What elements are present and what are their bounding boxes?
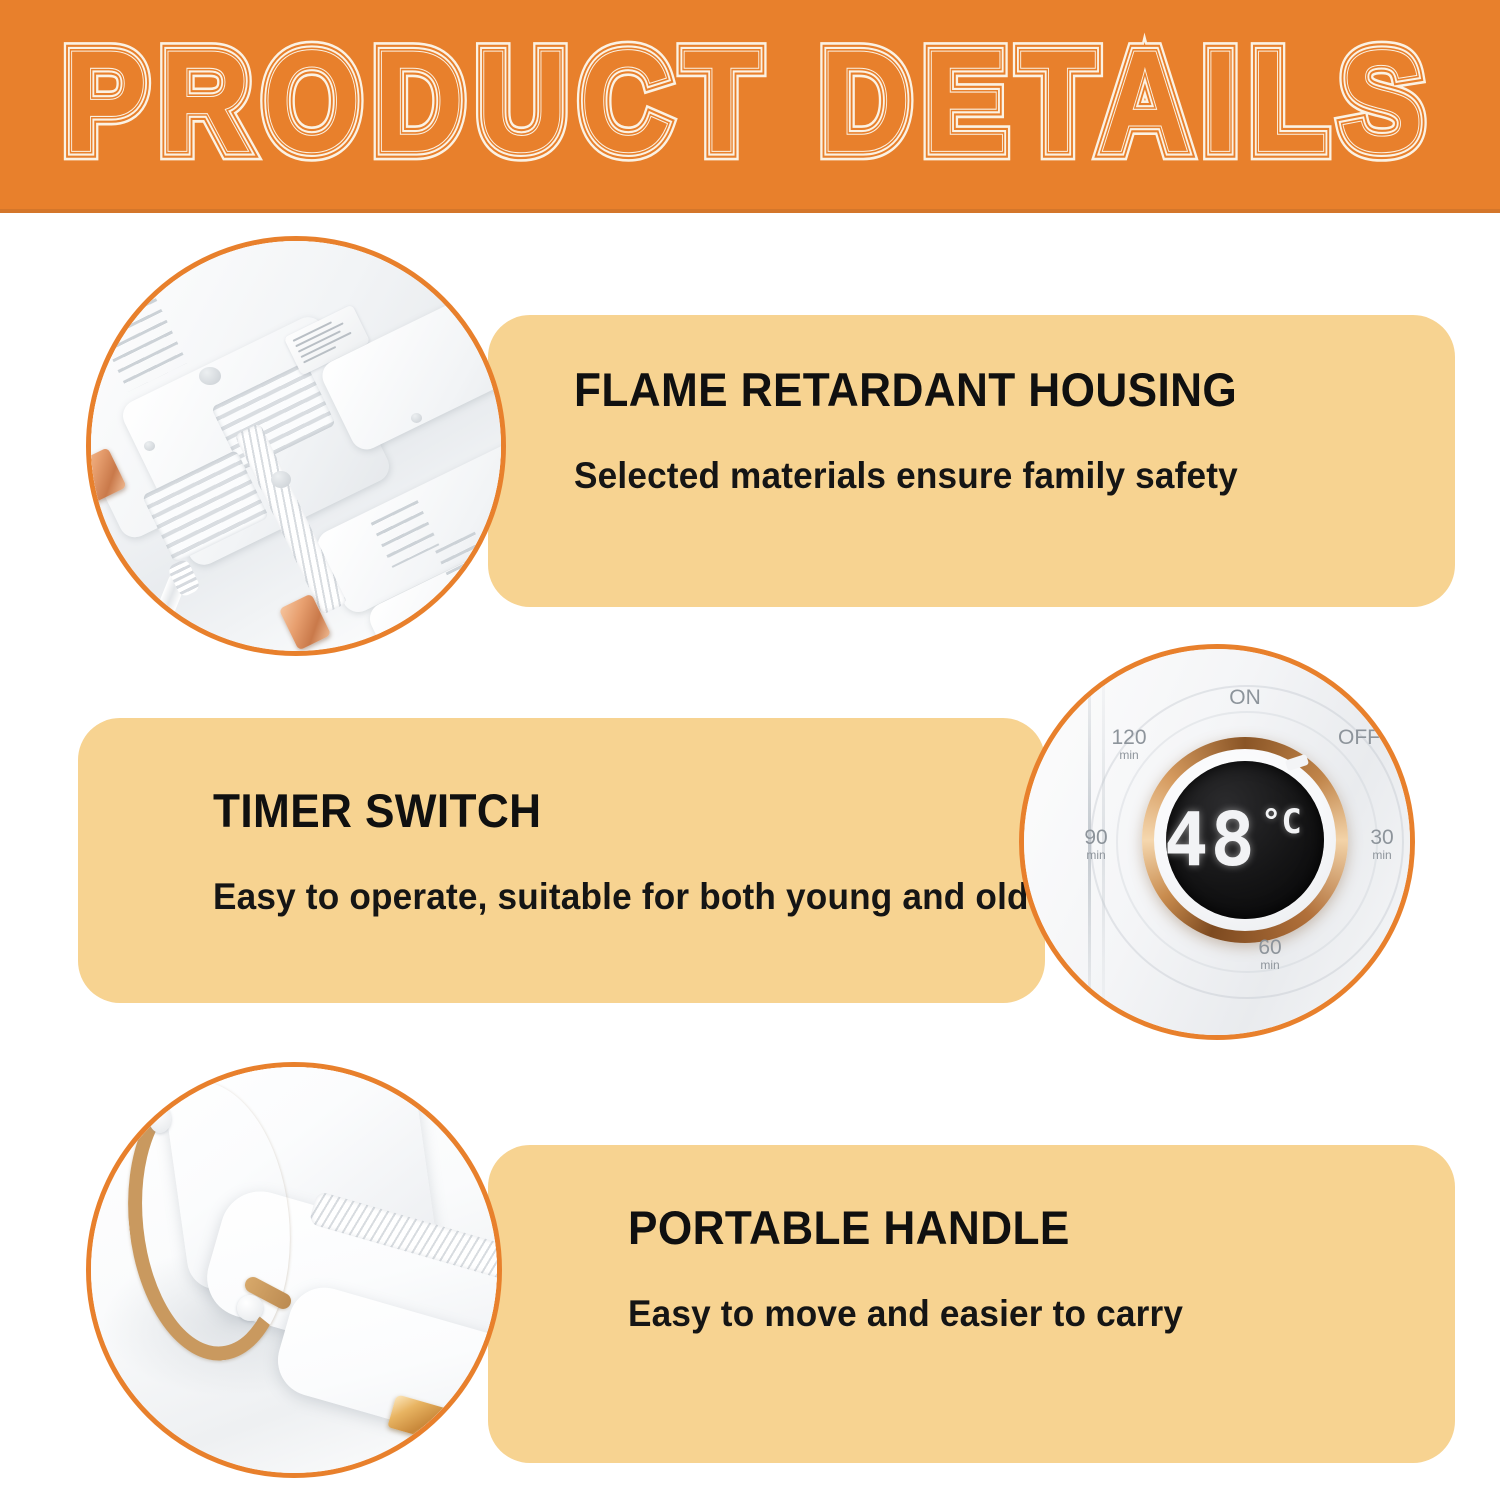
housing-screw-dot-2 <box>271 471 291 488</box>
timer-temperature-readout: 48 °C <box>1166 803 1302 877</box>
timer-mark-30min: 30 min <box>1354 827 1410 862</box>
feature-title-timer-switch: TIMER SWITCH <box>213 786 541 836</box>
feature-title-flame-retardant-housing: FLAME RETARDANT HOUSING <box>574 365 1237 415</box>
timer-photo-artwork: 48 °C ON OFF 30 min 60 min 90 min 120 mi… <box>1024 649 1410 1035</box>
housing-screw-dot-1 <box>199 367 221 385</box>
handle-strap-pin <box>237 1295 263 1321</box>
housing-photo-artwork <box>91 241 501 651</box>
feature-photo-portable-handle <box>86 1062 502 1478</box>
timer-temperature-unit: °C <box>1261 805 1302 839</box>
page-title: PRODUCT DETAILS PRODUCT DETAILS PRODUCT … <box>0 16 1500 186</box>
feature-photo-timer-switch: 48 °C ON OFF 30 min 60 min 90 min 120 mi… <box>1019 644 1415 1040</box>
timer-mark-60min: 60 min <box>1242 937 1298 972</box>
feature-card-timer-switch: TIMER SWITCH Easy to operate, suitable f… <box>78 718 1045 1003</box>
feature-card-portable-handle: PORTABLE HANDLE Easy to move and easier … <box>488 1145 1455 1463</box>
page-title-striped-text: PRODUCT DETAILS PRODUCT DETAILS PRODUCT … <box>130 26 1370 176</box>
housing-screw-dot-4 <box>411 413 422 423</box>
feature-subtitle-portable-handle: Easy to move and easier to carry <box>628 1293 1183 1335</box>
page-title-layer-core: PRODUCT DETAILS <box>180 22 1321 181</box>
timer-temperature-value: 48 <box>1166 803 1257 877</box>
timer-mark-90min: 90 min <box>1068 827 1124 862</box>
timer-mark-120min: 120 min <box>1098 727 1160 762</box>
housing-screw-dot-3 <box>144 441 155 451</box>
handle-strap-top-pin <box>149 1105 171 1133</box>
feature-subtitle-flame-retardant-housing: Selected materials ensure family safety <box>574 455 1238 497</box>
timer-mark-on: ON <box>1210 687 1280 709</box>
feature-photo-flame-retardant-housing <box>86 236 506 656</box>
feature-card-flame-retardant-housing: FLAME RETARDANT HOUSING Selected materia… <box>488 315 1455 607</box>
header-banner: PRODUCT DETAILS PRODUCT DETAILS PRODUCT … <box>0 0 1500 213</box>
timer-led-display: 48 °C <box>1166 761 1324 919</box>
timer-mark-off: OFF <box>1324 727 1394 749</box>
feature-title-portable-handle: PORTABLE HANDLE <box>628 1203 1070 1253</box>
feature-subtitle-timer-switch: Easy to operate, suitable for both young… <box>213 876 1029 918</box>
handle-photo-artwork <box>91 1067 497 1473</box>
